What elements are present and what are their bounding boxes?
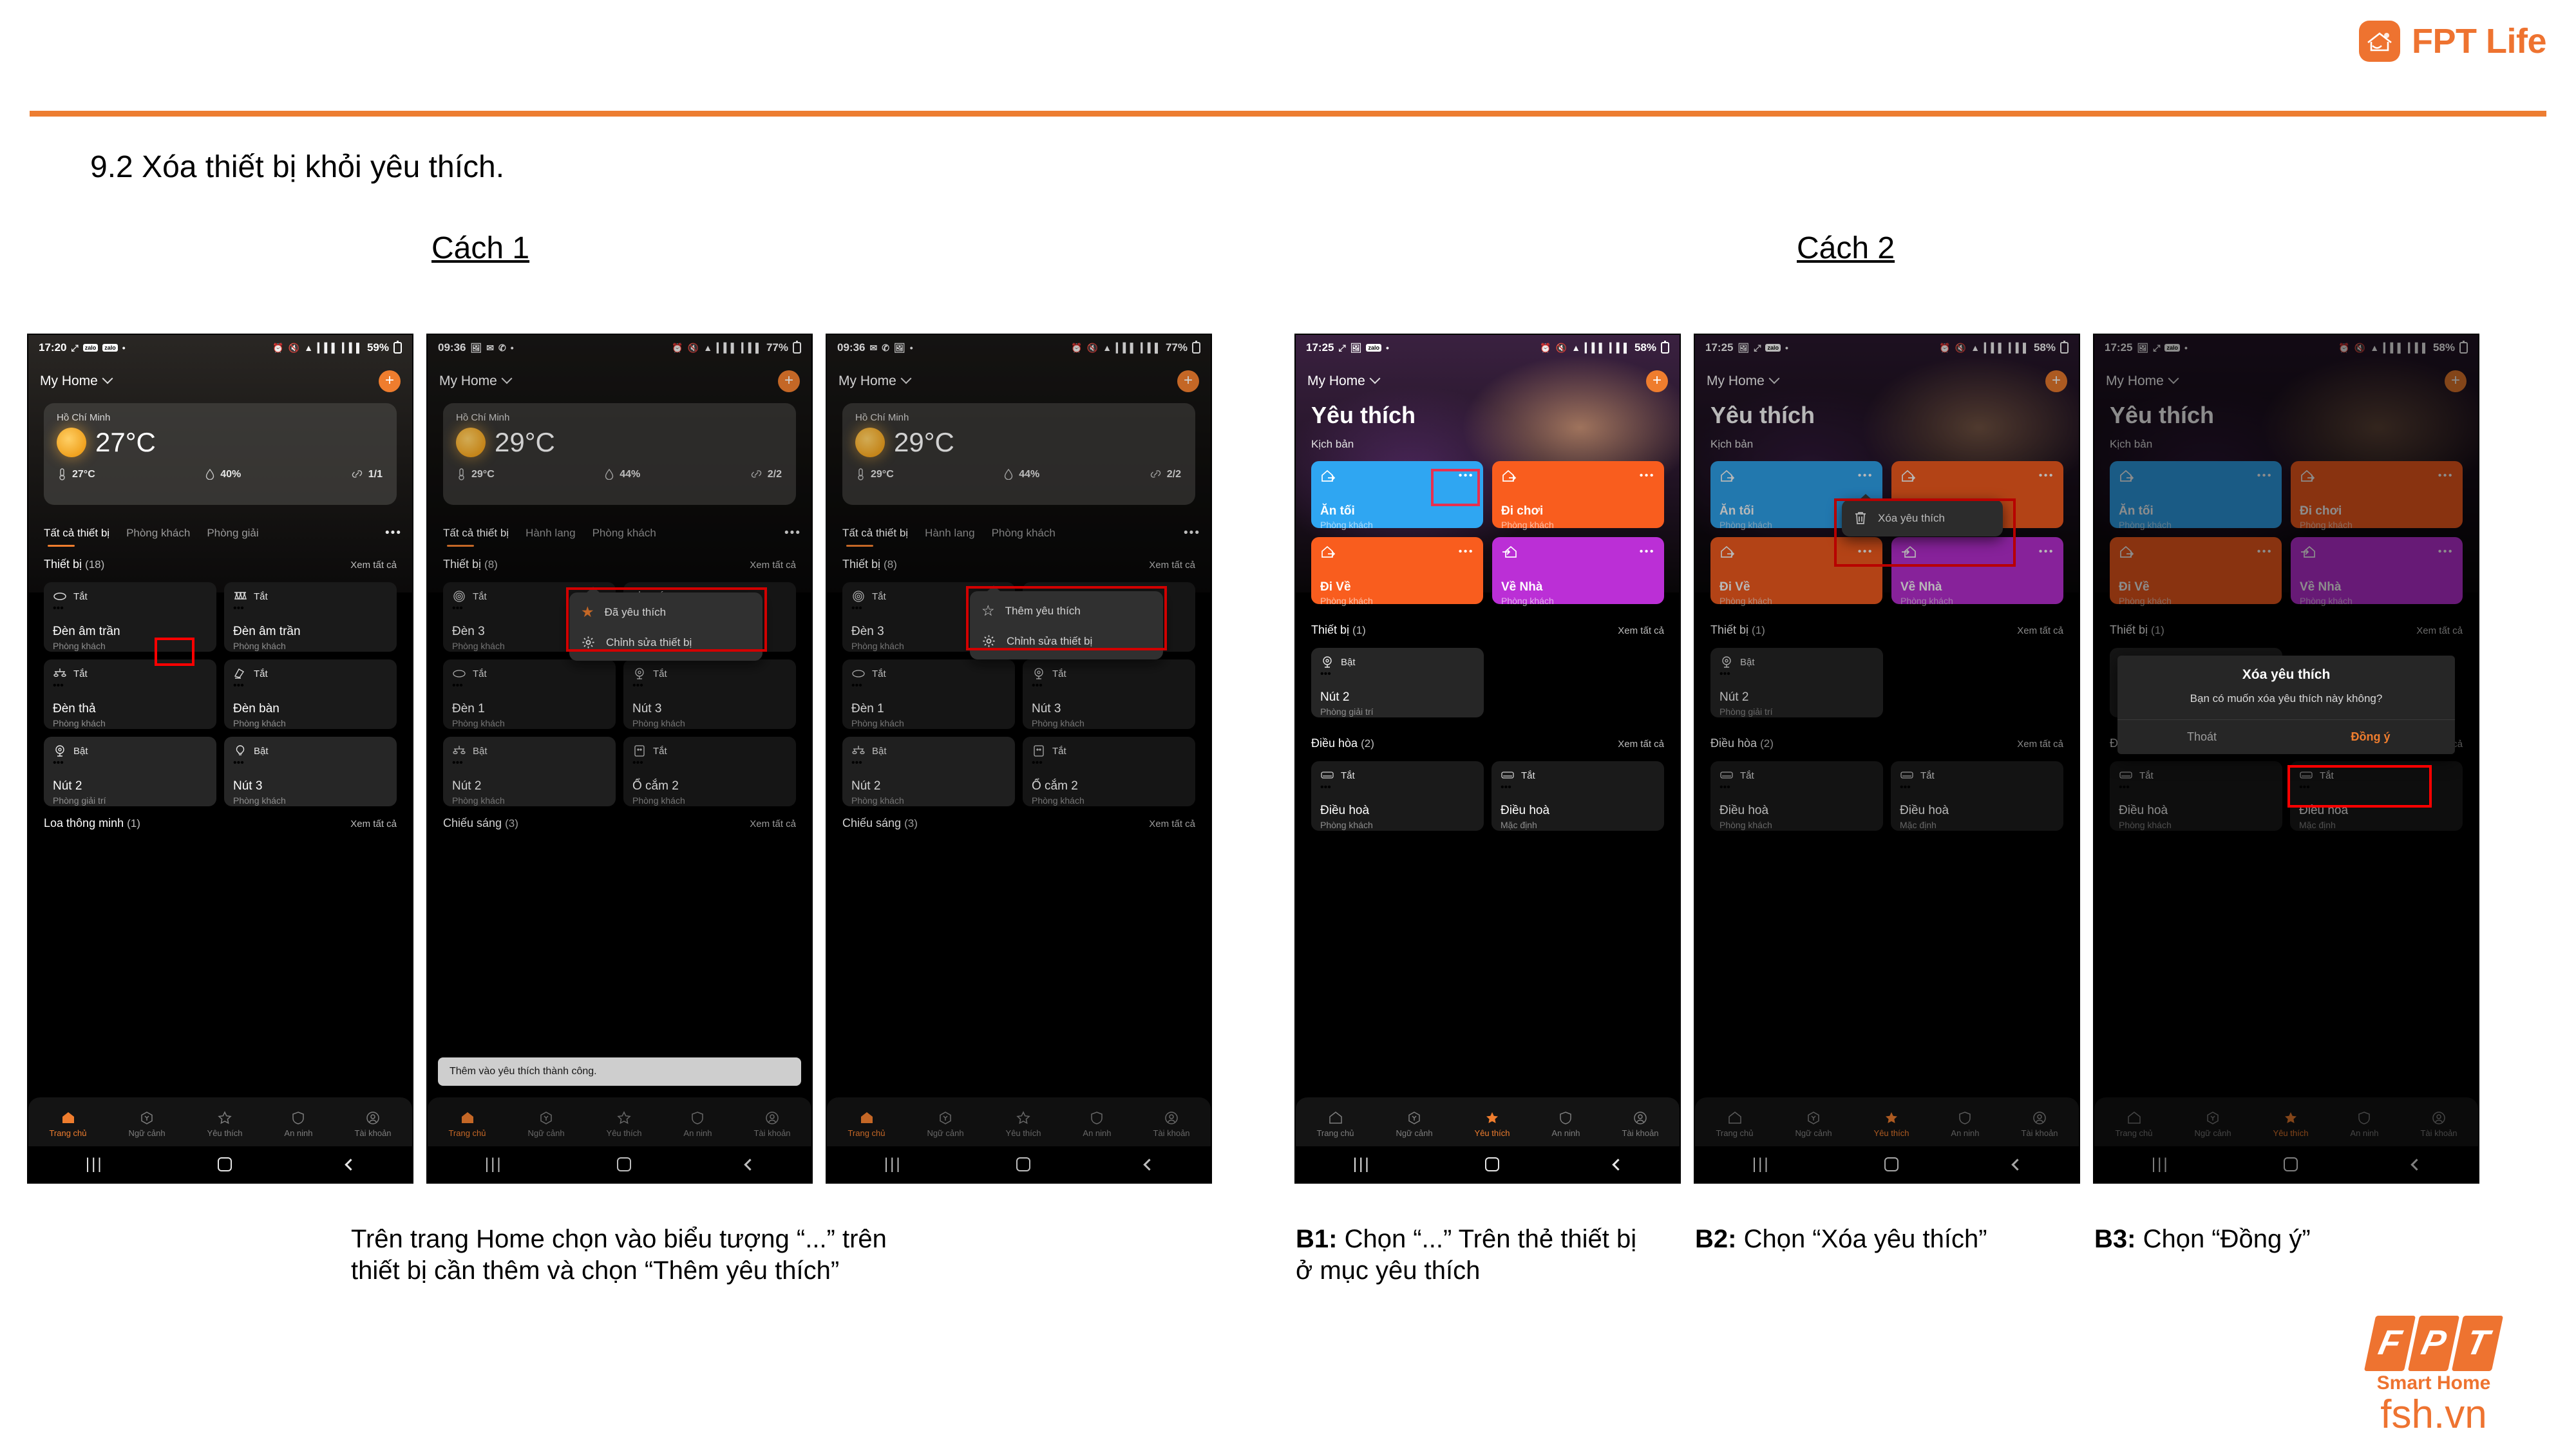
home-name: My Home	[838, 374, 896, 389]
favorites-page-title: Yêu thích	[2110, 402, 2214, 429]
section-count: (1)	[1352, 624, 1366, 636]
system-nav[interactable]: |||	[827, 1146, 1211, 1182]
photo-icon: 🖼	[470, 343, 482, 354]
scenario-more-icon[interactable]: •••	[2438, 470, 2454, 482]
scenario-grid: ••• Ăn tối Phòng khách ••• Đi chơi Phòng…	[1311, 461, 1664, 604]
button-icon	[1719, 656, 1734, 668]
device-more-icon[interactable]: •••	[452, 757, 607, 769]
scenario-name: Về Nhà	[2300, 580, 2454, 594]
scenario-card[interactable]: ••• Ăn tối Phòng khách	[1311, 461, 1483, 528]
back-chevron-icon[interactable]	[1612, 1159, 1624, 1170]
scenario-name: Đi chơi	[1501, 504, 1655, 518]
device-room: Phòng khách	[233, 718, 388, 728]
battery-icon	[793, 342, 801, 354]
weather-card[interactable]: Hồ Chí Minh 29°C 29°C 44% 2/2	[443, 403, 796, 505]
home-selector[interactable]: My Home	[1707, 374, 1778, 389]
button-icon	[53, 744, 67, 757]
tab-living-room[interactable]: Phòng khách	[992, 527, 1056, 540]
see-all-link[interactable]: Xem tất cả	[750, 819, 796, 829]
status-time: 17:20	[39, 341, 66, 354]
account-icon	[1633, 1110, 1648, 1126]
device-more-icon[interactable]: •••	[1032, 757, 1186, 769]
device-card[interactable]: Bật ••• Nút 2 Phòng khách	[443, 737, 616, 806]
scenario-more-icon[interactable]: •••	[1858, 470, 1873, 482]
status-time: 17:25	[1705, 341, 1733, 354]
more-tabs-icon[interactable]: •••	[784, 526, 801, 540]
tab-living-room[interactable]: Phòng khách	[592, 527, 656, 540]
bottom-nav[interactable]: Trang chủ Ngữ cảnh Yêu thích An ninh Tài…	[1296, 1097, 1680, 1146]
nav-item-scene[interactable]: Ngữ cảnh	[2194, 1110, 2231, 1138]
scenario-more-icon[interactable]: •••	[2039, 470, 2054, 482]
device-more-icon[interactable]: •••	[2299, 782, 2454, 793]
device-card[interactable]: Bật ••• Nút 2 Phòng giải trí	[44, 737, 216, 806]
ac-icon	[2119, 769, 2133, 782]
scenario-context-menu[interactable]: Xóa yêu thích	[1842, 500, 2003, 536]
link-icon	[352, 469, 363, 479]
home-selector[interactable]: My Home	[2106, 374, 2177, 389]
caption-step-3-text: Chọn “Đồng ý”	[2136, 1225, 2310, 1253]
status-bar: 09:36 🖼 ✉ ✆ • ⏰ 🔇 ▲ ▎▍▌ ▎▍▌ 77%	[428, 335, 811, 361]
socket-icon	[1032, 744, 1046, 757]
dialog-cancel-button[interactable]: Thoát	[2117, 720, 2286, 754]
confirm-dialog: Xóa yêu thích Bạn có muốn xóa yêu thích …	[2117, 656, 2455, 754]
device-card[interactable]: Tắt ••• Đèn 1 Phòng khách	[842, 659, 1015, 729]
home-name: My Home	[439, 374, 497, 389]
device-card[interactable]: Bật ••• Nút 2 Phòng khách	[842, 737, 1015, 806]
nav-item-security[interactable]: An ninh	[1951, 1110, 1979, 1138]
add-button[interactable]: +	[2045, 370, 2067, 392]
nav-label: Trang chủ	[2115, 1128, 2152, 1138]
scenario-more-icon[interactable]: •••	[1459, 546, 1474, 558]
nav-item-home[interactable]: Trang chủ	[2115, 1110, 2152, 1138]
nav-item-account[interactable]: Tài khoản	[2021, 1110, 2058, 1138]
nav-item-home[interactable]: Trang chủ	[1716, 1110, 1753, 1138]
device-more-icon[interactable]: •••	[233, 680, 388, 692]
droplet-icon	[205, 469, 214, 480]
weather-card[interactable]: Hồ Chí Minh 29°C 29°C 44% 2/2	[842, 403, 1195, 505]
nav-item-home[interactable]: Trang chủ	[448, 1110, 486, 1138]
device-more-icon[interactable]: •••	[452, 680, 607, 692]
scenario-card[interactable]: ••• Về Nhà Phòng khách	[1492, 537, 1664, 604]
see-all-link[interactable]: Xem tất cả	[350, 560, 397, 571]
add-button[interactable]: +	[778, 370, 800, 392]
device-state: Bật	[73, 746, 88, 757]
signal-icon: ▎▍▌	[1116, 343, 1136, 354]
device-card[interactable]: Bật ••• Nút 3 Phòng khách	[224, 737, 397, 806]
home-square-icon[interactable]	[1016, 1157, 1030, 1171]
device-card[interactable]: Tắt ••• Nút 3 Phòng khách	[1023, 659, 1195, 729]
device-more-icon[interactable]: •••	[851, 757, 1006, 769]
device-room: Phòng khách	[2119, 820, 2273, 830]
droplet-icon	[1004, 469, 1013, 480]
caption-way-1: Trên trang Home chọn vào biểu tượng “...…	[351, 1224, 924, 1287]
recents-button[interactable]: |||	[1752, 1155, 1770, 1173]
app-header: My Home +	[2094, 366, 2478, 397]
device-state: Tắt	[254, 668, 268, 679]
device-context-menu[interactable]: ★ Đã yêu thích Chỉnh sửa thiết bị	[569, 592, 762, 661]
dialog-confirm-button[interactable]: Đồng ý	[2286, 720, 2455, 754]
device-card[interactable]: Tắt ••• Điều hoà Phòng khách	[1311, 761, 1484, 831]
nav-item-security[interactable]: An ninh	[2350, 1110, 2378, 1138]
scenario-card[interactable]: ••• Đi Về Phòng khách	[1311, 537, 1483, 604]
chevron-down-icon	[2168, 373, 2179, 384]
device-more-icon[interactable]: •••	[1320, 782, 1475, 793]
battery-percent: 58%	[1634, 341, 1656, 354]
chevron-down-icon	[102, 373, 113, 384]
device-room: Mặc định	[1900, 820, 2054, 830]
nav-label: Ngữ cảnh	[128, 1128, 165, 1138]
nav-label: Trang chủ	[448, 1128, 486, 1138]
add-button[interactable]: +	[1646, 370, 1668, 392]
nav-item-home[interactable]: Trang chủ	[49, 1110, 86, 1138]
droplet-icon	[605, 469, 614, 480]
tab-all-devices[interactable]: Tất cả thiết bị	[842, 527, 908, 540]
device-more-icon[interactable]: •••	[632, 757, 787, 769]
device-card[interactable]: Bật ••• Nút 2 Phòng giải trí	[1710, 648, 1883, 717]
house-arrow-in-icon	[1501, 545, 1518, 559]
device-more-icon[interactable]: •••	[53, 680, 207, 692]
device-name: Nút 2	[851, 779, 1006, 793]
signal-icon: ▎▍▌	[1141, 343, 1161, 354]
device-more-icon[interactable]: •••	[233, 757, 388, 769]
battery-percent: 58%	[2433, 341, 2455, 354]
pendant-light-icon	[233, 590, 247, 603]
weather-card[interactable]: Hồ Chí Minh 27°C 27°C 40% 1/1	[44, 403, 397, 505]
recents-button[interactable]: |||	[884, 1155, 902, 1173]
device-card[interactable]: Tắt ••• Đèn âm trần Phòng khách	[224, 582, 397, 652]
device-card[interactable]: Tắt ••• Điều hoà Mặc định	[1891, 761, 2063, 831]
menu-item-favorited[interactable]: ★ Đã yêu thích	[569, 596, 762, 628]
scenario-room: Phòng khách	[2119, 520, 2273, 530]
device-state: Tắt	[1920, 770, 1935, 781]
section-header-speakers: Loa thông minh (1) Xem tất cả	[44, 817, 397, 830]
bottom-nav[interactable]: Trang chủ Ngữ cảnh Yêu thích An ninh Tài…	[827, 1097, 1211, 1146]
see-all-link[interactable]: Xem tất cả	[350, 819, 397, 829]
nav-item-security[interactable]: An ninh	[683, 1110, 712, 1138]
device-card[interactable]: Tắt ••• Ổ cắm 2 Phòng khách	[1023, 737, 1195, 806]
nav-item-scene[interactable]: Ngữ cảnh	[527, 1110, 564, 1138]
scenario-card[interactable]: ••• Đi chơi Phòng khách	[2291, 461, 2463, 528]
nav-item-account[interactable]: Tài khoản	[354, 1110, 391, 1138]
nav-label: Ngữ cảnh	[1795, 1128, 1832, 1138]
back-chevron-icon[interactable]	[1143, 1159, 1155, 1170]
system-nav[interactable]: |||	[2094, 1146, 2478, 1182]
menu-item-add-favorite[interactable]: ☆ Thêm yêu thích	[970, 595, 1163, 627]
scenario-card[interactable]: ••• Ăn tối Phòng khách	[2110, 461, 2282, 528]
desk-lamp-icon	[233, 667, 247, 680]
device-card[interactable]: Tắt ••• Nút 3 Phòng khách	[623, 659, 796, 729]
system-nav[interactable]: |||	[428, 1146, 811, 1182]
nav-label: Ngữ cảnh	[1396, 1128, 1432, 1138]
device-card[interactable]: Bật ••• Nút 2 Phòng giải trí	[1311, 648, 1484, 717]
status-bar: 17:20 ⤢ zalo zalo • ⏰ 🔇 ▲ ▎▍▌ ▎▍▌ 59%	[28, 335, 412, 361]
device-state: Bật	[872, 746, 887, 757]
see-all-link[interactable]: Xem tất cả	[1618, 625, 1664, 636]
scene-icon	[139, 1110, 155, 1126]
nav-item-favorites[interactable]: Yêu thích	[607, 1110, 642, 1138]
device-state: Bật	[473, 746, 488, 757]
nav-label: Tài khoản	[753, 1128, 790, 1138]
wifi-icon: ▲	[1103, 343, 1112, 353]
device-more-icon[interactable]: •••	[53, 603, 207, 614]
device-state: Tắt	[872, 591, 886, 602]
scenario-more-icon[interactable]: •••	[1459, 470, 1474, 482]
wifi-icon: ▲	[703, 343, 712, 353]
see-all-link[interactable]: Xem tất cả	[2017, 739, 2063, 750]
scenario-more-icon[interactable]: •••	[1640, 470, 1655, 482]
device-name: Điều hoà	[2299, 804, 2454, 818]
bottom-nav[interactable]: Trang chủ Ngữ cảnh Yêu thích An ninh Tài…	[28, 1097, 412, 1146]
scenario-card[interactable]: ••• Đi chơi Phòng khách	[1492, 461, 1664, 528]
tab-hallway[interactable]: Hành lang	[925, 527, 975, 540]
section-title: Loa thông minh	[44, 817, 124, 829]
see-all-link[interactable]: Xem tất cả	[1149, 560, 1195, 571]
menu-item-label: Đã yêu thích	[605, 606, 666, 619]
nav-item-account[interactable]: Tài khoản	[753, 1110, 790, 1138]
zalo-icon: zalo	[2164, 344, 2180, 352]
house-arrow-out-icon	[1320, 545, 1337, 559]
battery-percent: 77%	[1166, 341, 1188, 354]
status-time: 09:36	[438, 341, 466, 354]
star-icon	[1884, 1110, 1899, 1126]
device-card[interactable]: Tắt ••• Ổ cắm 2 Phòng khách	[623, 737, 796, 806]
section-title: Thiết bị	[44, 558, 82, 571]
scenario-card[interactable]: ••• Đi Về Phòng khách	[2110, 537, 2282, 604]
weather-humidity-value: 44%	[620, 469, 640, 480]
bottom-nav[interactable]: Trang chủ Ngữ cảnh Yêu thích An ninh Tài…	[428, 1097, 811, 1146]
messenger-icon: ✉	[486, 343, 494, 354]
add-button[interactable]: +	[379, 370, 401, 392]
nav-item-scene[interactable]: Ngữ cảnh	[128, 1110, 165, 1138]
weather-city: Hồ Chí Minh	[456, 412, 783, 423]
nav-item-home[interactable]: Trang chủ	[1316, 1110, 1354, 1138]
device-card[interactable]: Tắt ••• Đèn 1 Phòng khách	[443, 659, 616, 729]
scenario-more-icon[interactable]: •••	[1858, 546, 1873, 558]
device-state: Tắt	[473, 668, 487, 679]
home-name: My Home	[1707, 374, 1765, 389]
phone-screenshot-4: 17:25 ⤢ 🖼 zalo • ⏰ 🔇 ▲ ▎▍▌ ▎▍▌ 58% My Ho…	[1294, 334, 1681, 1184]
room-tabs[interactable]: Tất cả thiết bị Phòng khách Phòng giải •…	[44, 520, 402, 546]
scenario-card[interactable]: ••• Về Nhà Phòng khách	[2291, 537, 2463, 604]
scenario-card[interactable]: ••• Đi Về Phòng khách	[1710, 537, 1882, 604]
back-chevron-icon[interactable]	[744, 1159, 755, 1170]
weather-link-value: 2/2	[1167, 469, 1181, 480]
section-count: (1)	[1752, 624, 1765, 636]
see-all-link[interactable]: Xem tất cả	[2416, 625, 2463, 636]
photo-icon: 🖼	[1350, 343, 1362, 354]
home-selector[interactable]: My Home	[1307, 374, 1379, 389]
nav-item-favorites[interactable]: Yêu thích	[2273, 1110, 2309, 1138]
nav-item-account[interactable]: Tài khoản	[1622, 1110, 1658, 1138]
nav-item-home[interactable]: Trang chủ	[848, 1110, 885, 1138]
nav-item-security[interactable]: An ninh	[1551, 1110, 1580, 1138]
weather-feels: 29°C	[457, 468, 495, 480]
scenario-more-icon[interactable]: •••	[2257, 546, 2273, 558]
menu-item-edit-device[interactable]: Chỉnh sửa thiết bị	[569, 628, 762, 657]
nav-item-scene[interactable]: Ngữ cảnh	[1396, 1110, 1432, 1138]
more-tabs-icon[interactable]: •••	[385, 526, 402, 540]
add-button[interactable]: +	[1177, 370, 1199, 392]
nav-item-account[interactable]: Tài khoản	[1153, 1110, 1189, 1138]
back-chevron-icon[interactable]	[345, 1159, 356, 1170]
app-header: My Home +	[827, 366, 1211, 397]
device-card[interactable]: Tắt ••• Đèn thả Phòng khách	[44, 659, 216, 729]
device-room: Phòng khách	[452, 718, 607, 728]
device-more-icon[interactable]: •••	[2119, 782, 2273, 793]
tab-hallway[interactable]: Hành lang	[526, 527, 576, 540]
see-all-link[interactable]: Xem tất cả	[1618, 739, 1664, 750]
nav-item-security[interactable]: An ninh	[284, 1110, 312, 1138]
home-square-icon[interactable]	[2284, 1157, 2298, 1171]
scenario-card[interactable]: ••• Về Nhà Phòng khách	[1891, 537, 2063, 604]
house-arrow-out-icon	[2119, 545, 2136, 559]
nav-item-favorites[interactable]: Yêu thích	[1475, 1110, 1510, 1138]
scenario-name: Ăn tối	[1320, 504, 1474, 518]
home-square-icon[interactable]	[1884, 1157, 1899, 1171]
device-room: Phòng khách	[1719, 820, 1874, 830]
home-selector[interactable]: My Home	[439, 374, 511, 389]
scenario-more-icon[interactable]: •••	[2438, 546, 2454, 558]
device-more-icon[interactable]: •••	[1032, 680, 1186, 692]
device-state: Bật	[1341, 657, 1356, 668]
nav-item-scene[interactable]: Ngữ cảnh	[927, 1110, 963, 1138]
nav-item-scene[interactable]: Ngữ cảnh	[1795, 1110, 1832, 1138]
weather-feels-value: 29°C	[871, 469, 894, 480]
weather-link-value: 2/2	[768, 469, 782, 480]
device-card[interactable]: Tắt ••• Đèn bàn Phòng khách	[224, 659, 397, 729]
bottom-nav[interactable]: Trang chủ Ngữ cảnh Yêu thích An ninh Tài…	[2094, 1097, 2478, 1146]
device-more-icon[interactable]: •••	[1320, 668, 1475, 680]
menu-item-edit-device[interactable]: Chỉnh sửa thiết bị	[970, 627, 1163, 656]
scenario-name: Về Nhà	[1501, 580, 1655, 594]
device-card[interactable]: Tắt ••• Điều hoà Mặc định	[1492, 761, 1664, 831]
section-header-lighting: Chiếu sáng (3) Xem tất cả	[443, 817, 796, 830]
alarm-icon: ⏰	[1939, 343, 1950, 354]
weather-temp: 29°C	[894, 427, 954, 458]
system-nav[interactable]: |||	[1296, 1146, 1680, 1182]
zalo-icon: zalo	[83, 344, 99, 352]
recents-button[interactable]: |||	[485, 1155, 503, 1173]
ac-icon	[1320, 769, 1334, 782]
star-icon	[1016, 1110, 1031, 1126]
bottom-nav[interactable]: Trang chủ Ngữ cảnh Yêu thích An ninh Tài…	[1695, 1097, 2079, 1146]
signal-icon: ▎▍▌	[1585, 343, 1605, 354]
recents-button[interactable]: |||	[86, 1155, 104, 1173]
device-state: Tắt	[1740, 770, 1754, 781]
scenario-more-icon[interactable]: •••	[2257, 470, 2273, 482]
device-card[interactable]: Tắt ••• Điều hoà Mặc định	[2290, 761, 2463, 831]
device-more-icon[interactable]: •••	[1719, 668, 1874, 680]
add-button[interactable]: +	[2445, 370, 2467, 392]
scenario-more-icon[interactable]: •••	[2039, 546, 2054, 558]
device-grid: Tắt ••• Đèn âm trần Phòng khách Tắt ••• …	[44, 582, 397, 806]
see-all-link[interactable]: Xem tất cả	[1149, 819, 1195, 829]
device-more-icon[interactable]: •••	[1501, 782, 1655, 793]
device-more-icon[interactable]: •••	[851, 680, 1006, 692]
see-all-link[interactable]: Xem tất cả	[2017, 625, 2063, 636]
mute-icon: 🔇	[1955, 343, 1966, 354]
home-selector[interactable]: My Home	[40, 374, 111, 389]
nav-item-favorites[interactable]: Yêu thích	[1006, 1110, 1041, 1138]
device-more-icon[interactable]: •••	[233, 603, 388, 614]
more-tabs-icon[interactable]: •••	[1184, 526, 1200, 540]
device-more-icon[interactable]: •••	[1900, 782, 2054, 793]
account-icon	[2032, 1110, 2047, 1126]
see-all-link[interactable]: Xem tất cả	[750, 560, 796, 571]
nav-item-security[interactable]: An ninh	[1083, 1110, 1111, 1138]
nav-label: Ngữ cảnh	[2194, 1128, 2231, 1138]
device-more-icon[interactable]: •••	[53, 757, 207, 769]
device-state: Tắt	[473, 591, 487, 602]
home-icon	[2126, 1110, 2142, 1126]
tab-all-devices[interactable]: Tất cả thiết bị	[44, 527, 109, 540]
home-selector[interactable]: My Home	[838, 374, 910, 389]
device-more-icon[interactable]: •••	[632, 680, 787, 692]
chevron-down-icon	[501, 373, 512, 384]
device-name: Điều hoà	[1320, 804, 1475, 818]
nav-label: Trang chủ	[49, 1128, 86, 1138]
battery-icon	[2060, 342, 2069, 354]
device-card[interactable]: Tắt ••• Điều hoà Phòng khách	[1710, 761, 1883, 831]
recents-button[interactable]: |||	[2152, 1155, 2170, 1173]
room-tabs[interactable]: Tất cả thiết bị Hành lang Phòng khách ••…	[443, 520, 801, 546]
ac-grid: Tắt ••• Điều hoà Phòng khách Tắt ••• Điề…	[1311, 761, 1664, 831]
back-chevron-icon[interactable]	[2011, 1159, 2023, 1170]
nav-label: An ninh	[683, 1128, 712, 1138]
phone-icon: ✆	[882, 343, 889, 354]
mute-icon: 🔇	[1556, 343, 1567, 354]
star-icon	[217, 1110, 232, 1126]
menu-item-remove-favorite[interactable]: Xóa yêu thích	[1842, 504, 2003, 533]
app-header: My Home +	[1695, 366, 2079, 397]
section-count: (2)	[1760, 737, 1774, 750]
tab-living-room[interactable]: Phòng khách	[126, 527, 190, 540]
scene-icon	[1406, 1110, 1422, 1126]
system-nav[interactable]: |||	[1695, 1146, 2079, 1182]
nav-item-account[interactable]: Tài khoản	[2420, 1110, 2457, 1138]
system-nav[interactable]: |||	[28, 1146, 412, 1182]
weather-feels-value: 29°C	[471, 469, 495, 480]
wifi-icon: ▲	[2370, 343, 2379, 353]
recents-button[interactable]: |||	[1353, 1155, 1371, 1173]
tab-entertainment-room[interactable]: Phòng giải	[207, 527, 258, 540]
nav-item-favorites[interactable]: Yêu thích	[1874, 1110, 1909, 1138]
nav-item-favorites[interactable]: Yêu thích	[207, 1110, 243, 1138]
share-icon: ⤢	[2153, 343, 2160, 354]
home-icon	[1727, 1110, 1743, 1126]
caption-step-3-label: B3:	[2094, 1225, 2136, 1253]
device-room: Phòng khách	[851, 795, 1006, 806]
scenario-more-icon[interactable]: •••	[1640, 546, 1655, 558]
battery-percent: 59%	[367, 341, 389, 354]
room-tabs[interactable]: Tất cả thiết bị Hành lang Phòng khách ••…	[842, 520, 1200, 546]
home-square-icon[interactable]	[218, 1157, 232, 1171]
section-count: (18)	[85, 558, 104, 571]
home-square-icon[interactable]	[617, 1157, 631, 1171]
weather-temp: 29°C	[495, 427, 555, 458]
phone-screenshot-3: 09:36 ✉ ✆ 🖼 • ⏰ 🔇 ▲ ▎▍▌ ▎▍▌ 77% My Home	[826, 334, 1212, 1184]
back-chevron-icon[interactable]	[2410, 1159, 2422, 1170]
device-card[interactable]: Tắt ••• Đèn âm trần Phòng khách	[44, 582, 216, 652]
device-more-icon[interactable]: •••	[1719, 782, 1874, 793]
home-square-icon[interactable]	[1485, 1157, 1499, 1171]
device-card[interactable]: Tắt ••• Điều hoà Phòng khách	[2110, 761, 2282, 831]
device-room: Mặc định	[2299, 820, 2454, 830]
tab-all-devices[interactable]: Tất cả thiết bị	[443, 527, 509, 540]
scenario-name: Đi Về	[2119, 580, 2273, 594]
star-icon	[616, 1110, 632, 1126]
device-context-menu[interactable]: ☆ Thêm yêu thích Chỉnh sửa thiết bị	[970, 591, 1163, 659]
